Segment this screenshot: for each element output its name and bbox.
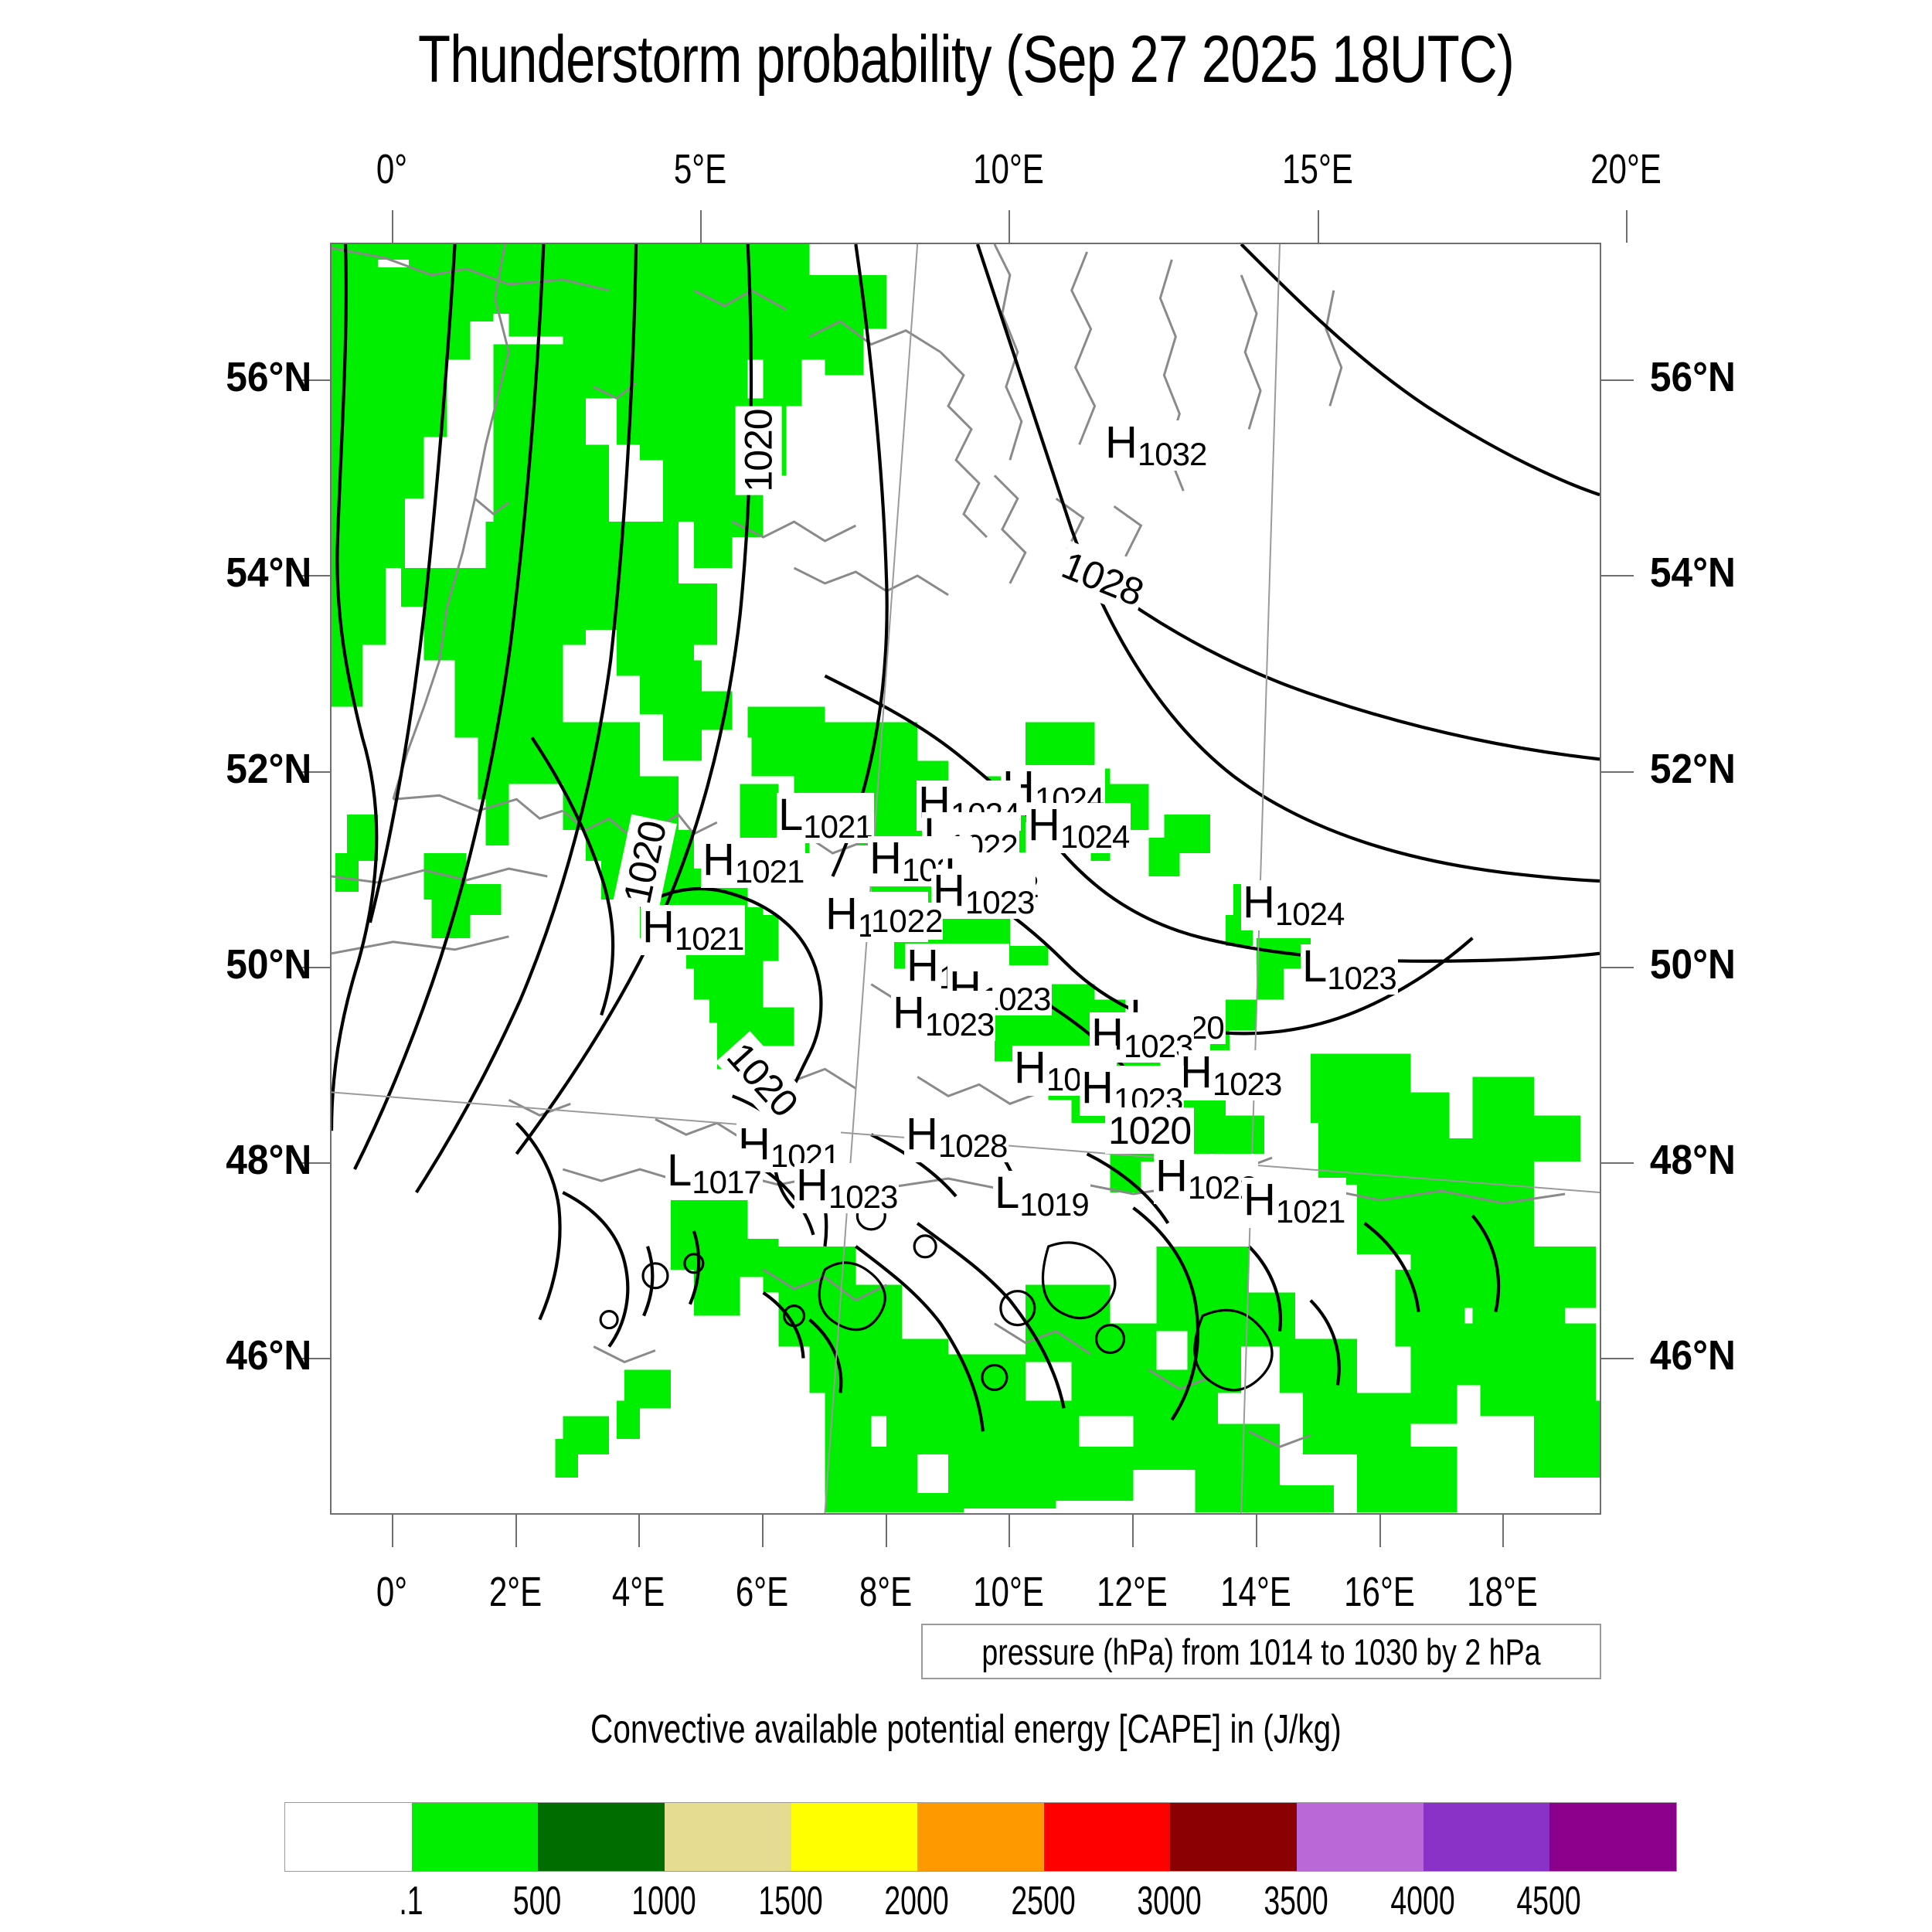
- pressure-center-symbol: H: [1105, 417, 1138, 468]
- colorbar-segment-0: [285, 1803, 412, 1871]
- high-pressure-marker-25: H1023: [794, 1163, 899, 1213]
- colorbar-segment-1: [412, 1803, 539, 1871]
- axis-bottom-label-5: 10°E: [954, 1568, 1063, 1616]
- pressure-center-symbol: L: [778, 790, 803, 840]
- colorbar-tick-0: .1: [399, 1878, 423, 1924]
- pressure-center-symbol: H: [1028, 800, 1060, 850]
- axis-right-label-3: 50°N: [1650, 940, 1736, 988]
- colorbar-segment-2: [538, 1803, 665, 1871]
- pressure-center-value: 1032: [1138, 436, 1206, 472]
- isobar-value-label-4: 1020: [1105, 1107, 1194, 1154]
- high-pressure-marker-20: H1023: [1179, 1050, 1283, 1100]
- axis-bottom-label-6: 12°E: [1078, 1568, 1186, 1616]
- high-pressure-marker-28: H1021: [1242, 1178, 1346, 1228]
- high-pressure-marker-0: H1032: [1104, 420, 1208, 471]
- colorbar-tick-7: 3500: [1264, 1878, 1328, 1924]
- colorbar-segment-6: [1044, 1803, 1171, 1871]
- axis-tick: [515, 1515, 517, 1547]
- axis-right-label-4: 48°N: [1650, 1136, 1736, 1184]
- axis-tick: [1318, 210, 1319, 243]
- isobar-value-label-0: 1020: [736, 406, 782, 495]
- pressure-center-value: 1023: [965, 884, 1034, 920]
- pressure-center-value: 1028: [938, 1128, 1007, 1164]
- axis-tick: [392, 210, 393, 243]
- pressure-center-symbol: H: [906, 940, 939, 991]
- axis-tick: [1256, 1515, 1257, 1547]
- pressure-center-value: 1021: [735, 853, 804, 889]
- colorbar-tick-9: 4500: [1517, 1878, 1581, 1924]
- pressure-center-symbol: H: [906, 1109, 938, 1159]
- pressure-center-value: 1017: [692, 1164, 760, 1200]
- axis-left-label-1: 54°N: [191, 549, 311, 597]
- pressure-center-value: 1023: [1213, 1066, 1281, 1102]
- axis-top-label-4: 20°E: [1572, 145, 1680, 193]
- low-pressure-marker-13: L1023: [1301, 944, 1398, 995]
- axis-tick: [762, 1515, 764, 1547]
- axis-bottom-label-2: 4°E: [584, 1568, 692, 1616]
- colorbar-tick-2: 1000: [631, 1878, 696, 1924]
- axis-tick: [1626, 210, 1628, 243]
- axis-bottom-label-1: 2°E: [461, 1568, 569, 1616]
- axis-top-label-2: 10°E: [954, 145, 1063, 193]
- pressure-center-value: 1023: [1327, 960, 1396, 996]
- pressure-center-value: 1023: [925, 1006, 994, 1043]
- low-pressure-marker-3: L1021: [777, 793, 874, 843]
- pressure-center-value: 1021: [675, 920, 743, 957]
- pressure-center-symbol: H: [893, 988, 925, 1038]
- plain-pressure-value-0: 1022: [871, 903, 943, 940]
- axis-top-label-1: 5°E: [646, 145, 754, 193]
- map-plot-area: H1032H1024H1024L1021H1024L1022H1021H1024…: [330, 243, 1601, 1515]
- axis-tick: [1379, 1515, 1381, 1547]
- pressure-center-symbol: L: [1302, 941, 1327, 992]
- axis-tick: [1009, 210, 1010, 243]
- axis-tick: [1601, 1358, 1634, 1359]
- pressure-center-value: 1021: [1276, 1193, 1345, 1230]
- high-pressure-marker-6: H1021: [701, 838, 805, 888]
- axis-tick: [886, 1515, 887, 1547]
- axis-left-label-4: 48°N: [191, 1136, 311, 1184]
- axis-left-label-2: 52°N: [191, 745, 311, 793]
- axis-tick: [1601, 1162, 1634, 1164]
- colorbar-tick-3: 1500: [758, 1878, 822, 1924]
- pressure-center-symbol: H: [1180, 1047, 1213, 1097]
- axis-tick: [1502, 1515, 1504, 1547]
- high-pressure-marker-2: H1024: [1026, 803, 1131, 853]
- axis-right-label-1: 54°N: [1650, 549, 1736, 597]
- axis-top-label-3: 15°E: [1263, 145, 1371, 193]
- colorbar-tick-6: 3000: [1138, 1878, 1202, 1924]
- pressure-center-value: 1024: [1060, 818, 1129, 855]
- high-pressure-marker-16: H1023: [891, 991, 995, 1041]
- pressure-center-value: 1024: [1275, 896, 1344, 932]
- colorbar-tick-4: 2000: [885, 1878, 949, 1924]
- pressure-center-value: 1021: [803, 808, 872, 845]
- pressure-center-symbol: H: [869, 833, 902, 883]
- axis-tick: [392, 1515, 393, 1547]
- axis-bottom-label-7: 14°E: [1202, 1568, 1310, 1616]
- colorbar-segment-7: [1170, 1803, 1297, 1871]
- pressure-center-value: 1023: [828, 1179, 897, 1215]
- axis-tick: [638, 1515, 640, 1547]
- colorbar-segment-9: [1423, 1803, 1550, 1871]
- axis-right-label-0: 56°N: [1650, 353, 1736, 401]
- high-pressure-marker-12: H1021: [641, 905, 745, 955]
- colorbar-segment-10: [1549, 1803, 1676, 1871]
- colorbar-segment-8: [1297, 1803, 1423, 1871]
- axis-tick: [700, 210, 702, 243]
- axis-right-label-5: 46°N: [1650, 1332, 1736, 1379]
- colorbar-segment-3: [665, 1803, 791, 1871]
- low-pressure-marker-27: L1019: [993, 1171, 1090, 1221]
- axis-tick: [1601, 967, 1634, 968]
- colorbar-segment-5: [917, 1803, 1044, 1871]
- colorbar-title: Convective available potential energy [C…: [0, 1706, 1932, 1753]
- colorbar-title-text: Convective available potential energy [C…: [590, 1706, 1342, 1753]
- axis-right-label-2: 52°N: [1650, 745, 1736, 793]
- low-pressure-marker-24: L1017: [665, 1148, 763, 1199]
- page-title: Thunderstorm probability (Sep 27 2025 18…: [193, 22, 1739, 98]
- pressure-center-symbol: H: [702, 835, 735, 885]
- pressure-legend-text: pressure (hPa) from 1014 to 1030 by 2 hP…: [981, 1631, 1540, 1673]
- pressure-legend-box: pressure (hPa) from 1014 to 1030 by 2 hP…: [921, 1624, 1601, 1679]
- axis-left-label-0: 56°N: [191, 353, 311, 401]
- pressure-center-symbol: L: [667, 1145, 692, 1196]
- high-pressure-marker-10: H1024: [1241, 880, 1345, 930]
- axis-tick: [1601, 379, 1634, 381]
- cape-colorbar-ticks: .150010001500200025003000350040004500: [284, 1878, 1675, 1932]
- axis-bottom-label-8: 16°E: [1325, 1568, 1433, 1616]
- pressure-center-value: 1019: [1019, 1186, 1088, 1223]
- pressure-center-symbol: H: [796, 1160, 828, 1210]
- axis-tick: [1601, 575, 1634, 577]
- colorbar-segment-4: [791, 1803, 918, 1871]
- axis-tick: [1601, 771, 1634, 773]
- colorbar-tick-8: 4000: [1390, 1878, 1454, 1924]
- high-pressure-marker-9: H1023: [931, 869, 1036, 919]
- axis-bottom-label-0: 0°: [338, 1568, 446, 1616]
- axis-bottom-label-9: 18°E: [1448, 1568, 1556, 1616]
- pressure-center-symbol: H: [1081, 1063, 1114, 1113]
- axis-tick: [1009, 1515, 1010, 1547]
- axis-bottom-label-4: 8°E: [831, 1568, 939, 1616]
- axis-left-label-5: 46°N: [191, 1332, 311, 1379]
- pressure-center-symbol: H: [825, 889, 858, 939]
- pressure-center-symbol: H: [1155, 1151, 1188, 1201]
- axis-left-label-3: 50°N: [191, 940, 311, 988]
- pressure-center-symbol: H: [1014, 1043, 1046, 1093]
- axis-bottom-label-3: 6°E: [708, 1568, 816, 1616]
- pressure-center-symbol: H: [1243, 1175, 1276, 1225]
- cape-colorbar: [284, 1802, 1677, 1872]
- colorbar-tick-1: 500: [513, 1878, 561, 1924]
- colorbar-tick-5: 2500: [1011, 1878, 1075, 1924]
- axis-top-label-0: 0°: [338, 145, 446, 193]
- axis-tick: [1132, 1515, 1134, 1547]
- pressure-center-symbol: H: [1243, 877, 1275, 927]
- pressure-center-symbol: L: [995, 1168, 1019, 1218]
- high-pressure-marker-23: H1028: [904, 1112, 1009, 1162]
